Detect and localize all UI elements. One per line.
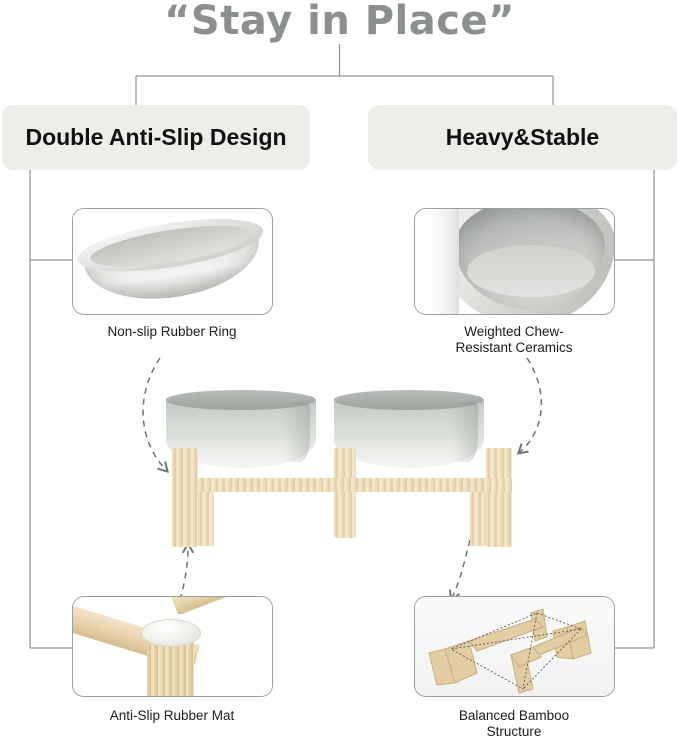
feature-caption-non-slip-rubber-ring: Non-slip Rubber Ring [52,324,292,340]
bamboo-post-left [172,448,198,547]
arrow-to-bamboo-structure [452,540,470,598]
rubber-pad-detail [141,619,201,647]
bowl-interior-photo [415,209,614,314]
bamboo-post-center [334,448,356,538]
bamboo-rail [172,478,512,492]
feature-thumbnail-balanced-bamboo-structure[interactable] [414,596,615,697]
feature-thumbnail-weighted-ceramics[interactable] [414,208,615,315]
feature-caption-anti-slip-rubber-mat: Anti-Slip Rubber Mat [52,708,292,724]
feature-thumbnail-anti-slip-rubber-mat[interactable] [72,596,273,697]
feature-thumbnail-non-slip-rubber-ring[interactable] [72,208,273,315]
bamboo-frame-photo [415,597,614,696]
bamboo-foot-left [198,492,214,546]
infographic-canvas: “Stay in Place” Double Anti-Slip Design … [0,0,679,742]
category-pill-heavy-stable[interactable]: Heavy&Stable [368,105,677,170]
bamboo-leg-pad-photo [73,597,272,696]
bamboo-stand [158,448,526,545]
page-title: “Stay in Place” [0,0,679,44]
feature-caption-balanced-bamboo-structure: Balanced Bamboo Structure [394,708,634,739]
category-pill-label: Heavy&Stable [446,124,599,151]
category-pill-anti-slip[interactable]: Double Anti-Slip Design [2,105,310,170]
feature-caption-weighted-ceramics: Weighted Chew- Resistant Ceramics [394,324,634,355]
tilted-ceramic-bowl-photo [73,209,272,314]
arrow-to-leg-foot [180,546,188,600]
bamboo-post-right [486,448,512,547]
category-pill-label: Double Anti-Slip Design [25,124,286,151]
bamboo-foot-right [470,492,486,546]
hero-product-image [158,390,526,545]
